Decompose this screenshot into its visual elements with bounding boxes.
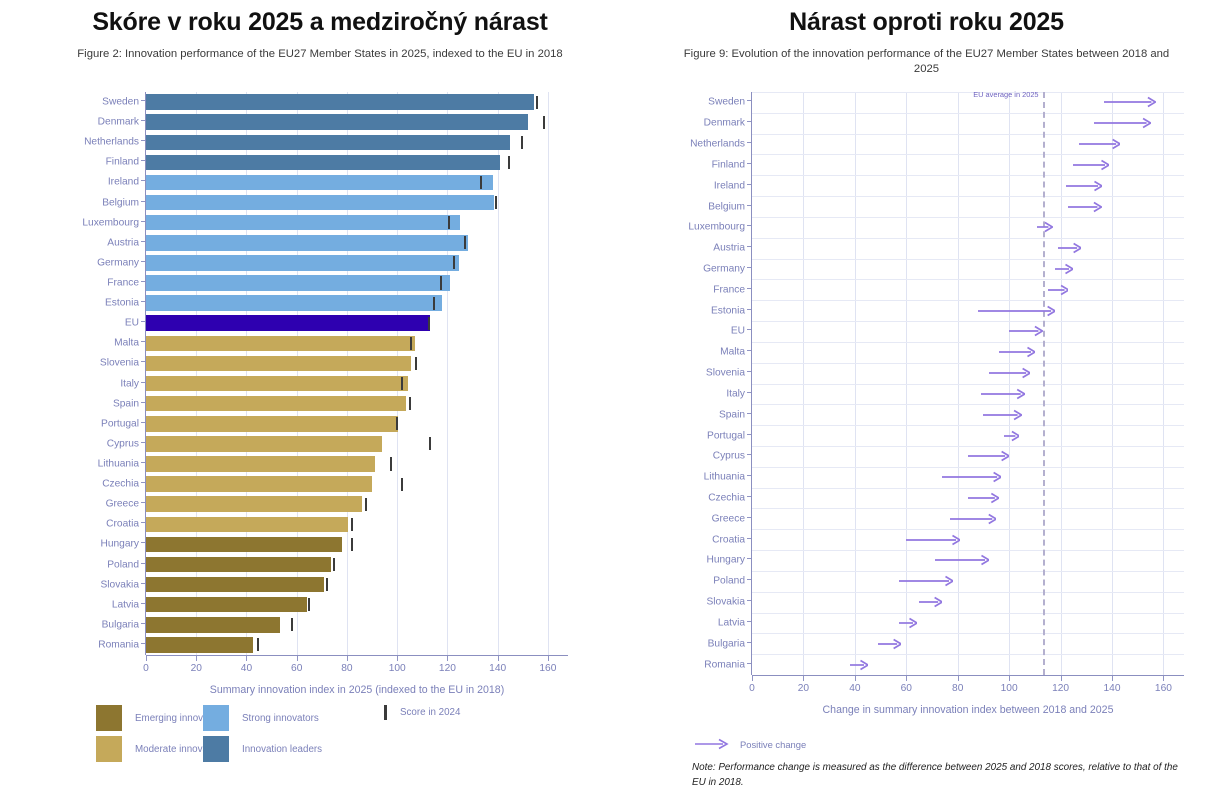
change-arrow-spain[interactable]	[983, 409, 1022, 421]
arrow-right-icon	[1055, 263, 1073, 275]
legend-label: Strong innovators	[242, 713, 319, 724]
x-tick	[1061, 676, 1062, 681]
bar-lithuania[interactable]	[146, 456, 375, 472]
y-tick	[747, 642, 751, 643]
y-tick	[747, 121, 751, 122]
bar-france[interactable]	[146, 275, 450, 291]
y-tick	[141, 542, 145, 543]
bar-slovenia[interactable]	[146, 356, 411, 372]
gridline	[752, 113, 1184, 114]
change-arrow-romania[interactable]	[850, 659, 868, 671]
bar-greece[interactable]	[146, 496, 362, 512]
arrow-right-icon	[850, 659, 868, 671]
y-tick	[747, 454, 751, 455]
category-label-hungary: Hungary	[100, 539, 139, 550]
x-tick-label: 40	[241, 663, 252, 674]
bar-latvia[interactable]	[146, 597, 307, 613]
left-panel: Skóre v roku 2025 a medziročný nárast Fi…	[0, 0, 640, 801]
score-2024-marker-lithuania	[390, 457, 392, 470]
score-2024-marker-france	[440, 276, 442, 289]
bar-italy[interactable]	[146, 376, 408, 392]
y-tick	[141, 583, 145, 584]
category-label-bulgaria: Bulgaria	[102, 619, 139, 630]
category-label-eu: EU	[125, 318, 139, 329]
arrow-right-icon	[1004, 430, 1019, 442]
positive-change-label: Positive change	[740, 739, 806, 750]
y-tick	[747, 600, 751, 601]
change-arrow-finland[interactable]	[1073, 159, 1109, 171]
change-arrow-lithuania[interactable]	[942, 471, 1001, 483]
x-tick-label: 80	[952, 683, 963, 694]
arrow-right-icon	[942, 471, 1001, 483]
category-label-bulgaria: Bulgaria	[708, 638, 745, 649]
x-tick	[498, 656, 499, 661]
legend-item-strong-innovators[interactable]: Strong innovators	[203, 705, 319, 731]
arrow-right-icon	[999, 346, 1035, 358]
gridline	[752, 404, 1184, 405]
legend-marker-icon	[384, 705, 387, 720]
arrow-right-icon	[899, 617, 917, 629]
score-2024-marker-poland	[333, 558, 335, 571]
x-tick-label: 40	[849, 683, 860, 694]
category-label-spain: Spain	[719, 409, 745, 420]
change-arrow-austria[interactable]	[1058, 242, 1081, 254]
change-arrow-czechia[interactable]	[968, 492, 999, 504]
x-tick-label: 100	[389, 663, 406, 674]
legend-swatch-icon	[203, 736, 229, 762]
arrow-right-icon	[983, 409, 1022, 421]
category-label-denmark: Denmark	[98, 117, 139, 128]
change-arrow-netherlands[interactable]	[1079, 138, 1120, 150]
change-arrow-germany[interactable]	[1055, 263, 1073, 275]
y-tick	[141, 603, 145, 604]
change-arrow-slovenia[interactable]	[989, 367, 1030, 379]
gridline	[752, 279, 1184, 280]
category-label-slovenia: Slovenia	[706, 368, 745, 379]
category-label-spain: Spain	[113, 398, 139, 409]
gridline	[752, 259, 1184, 260]
change-arrow-greece[interactable]	[950, 513, 996, 525]
category-label-lithuania: Lithuania	[98, 458, 139, 469]
arrow-right-icon	[695, 738, 731, 750]
y-tick	[141, 120, 145, 121]
bar-austria[interactable]	[146, 235, 468, 251]
x-tick-label: 80	[341, 663, 352, 674]
bar-sweden[interactable]	[146, 94, 534, 110]
y-tick	[141, 502, 145, 503]
score-2024-marker-spain	[409, 397, 411, 410]
category-label-belgium: Belgium	[102, 197, 139, 208]
x-tick	[447, 656, 448, 661]
bar-malta[interactable]	[146, 336, 415, 352]
arrow-right-icon	[1058, 242, 1081, 254]
figure9-plot-area: EU average in 2025SwedenDenmarkNetherlan…	[752, 92, 1184, 675]
category-label-netherlands: Netherlands	[690, 139, 745, 150]
category-label-malta: Malta	[720, 347, 745, 358]
category-label-slovakia: Slovakia	[706, 597, 745, 608]
dual-chart-page: Skóre v roku 2025 a medziročný nárast Fi…	[0, 0, 1213, 801]
arrow-right-icon	[1009, 325, 1042, 337]
right-panel-title: Nárast oproti roku 2025	[640, 8, 1213, 37]
x-tick	[1163, 676, 1164, 681]
arrow-right-icon	[1037, 221, 1052, 233]
arrow-right-icon	[1048, 284, 1069, 296]
score-2024-marker-hungary	[351, 538, 353, 551]
gridline	[752, 592, 1184, 593]
gridline	[752, 613, 1184, 614]
x-axis-line	[146, 655, 568, 656]
category-label-lithuania: Lithuania	[704, 472, 745, 483]
y-tick	[141, 361, 145, 362]
y-tick	[747, 371, 751, 372]
gridline	[752, 134, 1184, 135]
x-tick	[752, 676, 753, 681]
category-label-croatia: Croatia	[106, 519, 139, 530]
x-tick	[347, 656, 348, 661]
category-label-denmark: Denmark	[704, 118, 745, 129]
category-label-latvia: Latvia	[718, 617, 745, 628]
x-tick-label: 140	[489, 663, 506, 674]
arrow-right-icon	[1079, 138, 1120, 150]
category-label-portugal: Portugal	[707, 430, 745, 441]
change-arrow-latvia[interactable]	[899, 617, 917, 629]
category-label-ireland: Ireland	[108, 177, 139, 188]
x-tick-label: 0	[143, 663, 149, 674]
change-arrow-malta[interactable]	[999, 346, 1035, 358]
figure2-plot-area: SwedenDenmarkNetherlandsFinlandIrelandBe…	[146, 92, 568, 655]
score-2024-marker-italy	[401, 377, 403, 390]
change-arrow-sweden[interactable]	[1104, 96, 1155, 108]
category-label-finland: Finland	[712, 159, 745, 170]
x-tick	[397, 656, 398, 661]
bar-spain[interactable]	[146, 396, 406, 412]
y-tick	[141, 341, 145, 342]
change-arrow-france[interactable]	[1048, 284, 1069, 296]
y-tick	[747, 246, 751, 247]
legend-label: Innovation leaders	[242, 744, 322, 755]
y-tick	[747, 579, 751, 580]
change-arrow-slovakia[interactable]	[919, 596, 942, 608]
y-tick	[141, 201, 145, 202]
y-tick	[141, 100, 145, 101]
right-panel: Nárast oproti roku 2025 Figure 9: Evolut…	[640, 0, 1213, 801]
score-2024-marker-czechia	[401, 478, 403, 491]
bar-poland[interactable]	[146, 557, 331, 573]
x-tick-label: 20	[191, 663, 202, 674]
category-label-greece: Greece	[712, 513, 745, 524]
gridline	[752, 425, 1184, 426]
y-tick	[747, 621, 751, 622]
figure2-x-axis-title: Summary innovation index in 2025 (indexe…	[210, 684, 504, 696]
arrow-right-icon	[968, 450, 1009, 462]
figure9-note: Note: Performance change is measured as …	[692, 760, 1190, 790]
score-2024-marker-ireland	[480, 176, 482, 189]
change-arrow-luxembourg[interactable]	[1037, 221, 1052, 233]
arrow-right-icon	[899, 575, 953, 587]
y-tick	[141, 301, 145, 302]
change-arrow-denmark[interactable]	[1094, 117, 1151, 129]
category-label-luxembourg: Luxembourg	[82, 217, 139, 228]
legend-swatch-icon	[203, 705, 229, 731]
bar-portugal[interactable]	[146, 416, 398, 432]
arrow-right-icon	[1094, 117, 1151, 129]
bar-netherlands[interactable]	[146, 135, 510, 151]
y-tick	[141, 422, 145, 423]
y-tick	[141, 623, 145, 624]
arrow-right-icon	[978, 305, 1055, 317]
arrow-right-icon	[950, 513, 996, 525]
category-label-france: France	[713, 284, 745, 295]
x-tick-label: 60	[901, 683, 912, 694]
bar-bulgaria[interactable]	[146, 617, 280, 633]
gridline	[752, 446, 1184, 447]
left-figure-caption: Figure 2: Innovation performance of the …	[70, 47, 570, 62]
bar-eu[interactable]	[146, 315, 430, 331]
x-tick-label: 140	[1104, 683, 1121, 694]
arrow-right-icon	[906, 534, 960, 546]
change-arrow-croatia[interactable]	[906, 534, 960, 546]
score-2024-marker-romania	[257, 638, 259, 651]
arrow-right-icon	[1068, 201, 1101, 213]
category-label-romania: Romania	[704, 659, 745, 670]
score-2024-marker-belgium	[495, 196, 497, 209]
category-label-luxembourg: Luxembourg	[688, 222, 745, 233]
category-label-austria: Austria	[713, 243, 745, 254]
y-tick	[141, 140, 145, 141]
y-tick	[141, 180, 145, 181]
y-tick	[141, 643, 145, 644]
score-2024-marker-estonia	[433, 297, 435, 310]
eu-average-line-label: EU average in 2025	[973, 90, 1038, 99]
x-tick	[246, 656, 247, 661]
x-tick-label: 120	[1052, 683, 1069, 694]
category-label-estonia: Estonia	[105, 298, 139, 309]
y-tick	[141, 261, 145, 262]
bar-estonia[interactable]	[146, 295, 442, 311]
bar-belgium[interactable]	[146, 195, 494, 211]
x-tick-label: 20	[798, 683, 809, 694]
y-tick	[141, 382, 145, 383]
arrow-right-icon	[968, 492, 999, 504]
category-label-croatia: Croatia	[712, 534, 745, 545]
bar-cyprus[interactable]	[146, 436, 382, 452]
y-tick	[747, 329, 751, 330]
arrow-right-icon	[919, 596, 942, 608]
gridline	[752, 633, 1184, 634]
category-label-austria: Austria	[107, 237, 139, 248]
x-tick	[906, 676, 907, 681]
category-label-finland: Finland	[106, 157, 139, 168]
y-tick	[141, 402, 145, 403]
bar-finland[interactable]	[146, 155, 500, 171]
bar-czechia[interactable]	[146, 476, 372, 492]
category-label-poland: Poland	[107, 559, 139, 570]
y-tick	[747, 288, 751, 289]
x-tick	[1009, 676, 1010, 681]
bar-germany[interactable]	[146, 255, 459, 271]
positive-change-legend: Positive change	[695, 738, 806, 750]
y-tick	[747, 100, 751, 101]
score-2024-marker-denmark	[543, 116, 545, 129]
category-label-czechia: Czechia	[102, 479, 139, 490]
score-2024-marker-finland	[508, 156, 510, 169]
category-label-belgium: Belgium	[708, 201, 745, 212]
gridline	[752, 175, 1184, 176]
gridline	[752, 238, 1184, 239]
y-tick	[747, 413, 751, 414]
category-label-cyprus: Cyprus	[713, 451, 745, 462]
gridline	[752, 488, 1184, 489]
left-panel-title: Skóre v roku 2025 a medziročný nárast	[0, 8, 640, 37]
gridline	[752, 529, 1184, 530]
change-arrow-bulgaria[interactable]	[878, 638, 901, 650]
change-arrow-eu[interactable]	[1009, 325, 1042, 337]
x-tick-label: 0	[749, 683, 755, 694]
bar-romania[interactable]	[146, 637, 253, 653]
category-label-hungary: Hungary	[706, 555, 745, 566]
category-label-france: France	[107, 278, 139, 289]
category-label-sweden: Sweden	[102, 97, 139, 108]
category-label-malta: Malta	[114, 338, 139, 349]
legend-swatch-icon	[96, 736, 122, 762]
arrow-right-icon	[1104, 96, 1155, 108]
y-tick	[747, 163, 751, 164]
y-tick	[141, 221, 145, 222]
gridline	[752, 550, 1184, 551]
gridline	[752, 342, 1184, 343]
category-label-poland: Poland	[713, 576, 745, 587]
gridline	[752, 217, 1184, 218]
category-label-latvia: Latvia	[112, 599, 139, 610]
category-label-slovenia: Slovenia	[100, 358, 139, 369]
arrow-right-icon	[935, 554, 989, 566]
y-tick	[141, 241, 145, 242]
x-tick	[297, 656, 298, 661]
y-tick	[141, 321, 145, 322]
y-tick	[141, 462, 145, 463]
legend-swatch-icon	[96, 705, 122, 731]
bar-ireland[interactable]	[146, 175, 493, 191]
change-arrow-hungary[interactable]	[935, 554, 989, 566]
x-tick-label: 100	[1001, 683, 1018, 694]
gridline	[752, 654, 1184, 655]
y-tick	[747, 434, 751, 435]
arrow-right-icon	[878, 638, 901, 650]
y-tick	[747, 267, 751, 268]
x-tick	[196, 656, 197, 661]
category-label-estonia: Estonia	[711, 305, 745, 316]
y-tick	[747, 142, 751, 143]
y-tick	[747, 184, 751, 185]
y-tick	[141, 482, 145, 483]
figure2-legend: Emerging innovatorsStrong innovatorsScor…	[96, 705, 556, 765]
gridline	[752, 321, 1184, 322]
score-2024-marker-bulgaria	[291, 618, 293, 631]
arrow-right-icon	[981, 388, 1025, 400]
y-tick	[141, 281, 145, 282]
category-label-portugal: Portugal	[101, 418, 139, 429]
bar-croatia[interactable]	[146, 517, 348, 533]
gridline	[548, 92, 549, 655]
legend-item-innovation-leaders[interactable]: Innovation leaders	[203, 736, 322, 762]
score-2024-marker-latvia	[308, 598, 310, 611]
change-arrow-portugal[interactable]	[1004, 430, 1019, 442]
change-arrow-belgium[interactable]	[1068, 201, 1101, 213]
category-label-italy: Italy	[726, 388, 745, 399]
category-label-czechia: Czechia	[708, 493, 745, 504]
score-2024-marker-austria	[464, 236, 466, 249]
score-2024-marker-slovakia	[326, 578, 328, 591]
y-tick	[747, 225, 751, 226]
x-tick	[958, 676, 959, 681]
score-2024-marker-slovenia	[415, 357, 417, 370]
category-label-slovakia: Slovakia	[100, 579, 139, 590]
gridline	[498, 92, 499, 655]
score-2024-marker-greece	[365, 498, 367, 511]
score-2024-marker-croatia	[351, 518, 353, 531]
right-figure-caption: Figure 9: Evolution of the innovation pe…	[677, 47, 1177, 77]
y-tick	[747, 558, 751, 559]
y-tick	[141, 522, 145, 523]
arrow-right-icon	[1066, 180, 1102, 192]
legend-label: Score in 2024	[400, 707, 460, 718]
eu-average-line	[1043, 92, 1045, 675]
bar-slovakia[interactable]	[146, 577, 324, 593]
bar-hungary[interactable]	[146, 537, 342, 553]
legend-item-score-in-2024[interactable]: Score in 2024	[373, 705, 460, 720]
y-tick	[747, 538, 751, 539]
change-arrow-estonia[interactable]	[978, 305, 1055, 317]
figure9-x-axis-title: Change in summary innovation index betwe…	[823, 704, 1114, 716]
gridline	[752, 92, 1184, 93]
bar-denmark[interactable]	[146, 114, 528, 130]
x-tick	[548, 656, 549, 661]
y-axis-line	[751, 92, 752, 675]
arrow-right-icon	[989, 367, 1030, 379]
x-axis-line	[752, 675, 1184, 676]
category-label-eu: EU	[731, 326, 745, 337]
change-arrow-italy[interactable]	[981, 388, 1025, 400]
gridline	[752, 508, 1184, 509]
change-arrow-ireland[interactable]	[1066, 180, 1102, 192]
category-label-sweden: Sweden	[708, 97, 745, 108]
score-2024-marker-eu	[428, 317, 430, 330]
x-tick-label: 120	[439, 663, 456, 674]
category-label-romania: Romania	[98, 639, 139, 650]
score-2024-marker-netherlands	[521, 136, 523, 149]
y-tick	[747, 309, 751, 310]
score-2024-marker-sweden	[536, 96, 538, 109]
y-tick	[747, 350, 751, 351]
category-label-netherlands: Netherlands	[84, 137, 139, 148]
score-2024-marker-malta	[410, 337, 412, 350]
gridline	[752, 571, 1184, 572]
y-tick	[747, 496, 751, 497]
y-tick	[141, 160, 145, 161]
y-tick	[747, 205, 751, 206]
gridline	[752, 467, 1184, 468]
category-label-cyprus: Cyprus	[107, 438, 139, 449]
x-tick-label: 60	[291, 663, 302, 674]
category-label-italy: Italy	[120, 378, 139, 389]
bar-luxembourg[interactable]	[146, 215, 460, 231]
change-arrow-poland[interactable]	[899, 575, 953, 587]
gridline	[752, 300, 1184, 301]
change-arrow-cyprus[interactable]	[968, 450, 1009, 462]
y-tick	[747, 517, 751, 518]
y-tick	[141, 563, 145, 564]
score-2024-marker-luxembourg	[448, 216, 450, 229]
